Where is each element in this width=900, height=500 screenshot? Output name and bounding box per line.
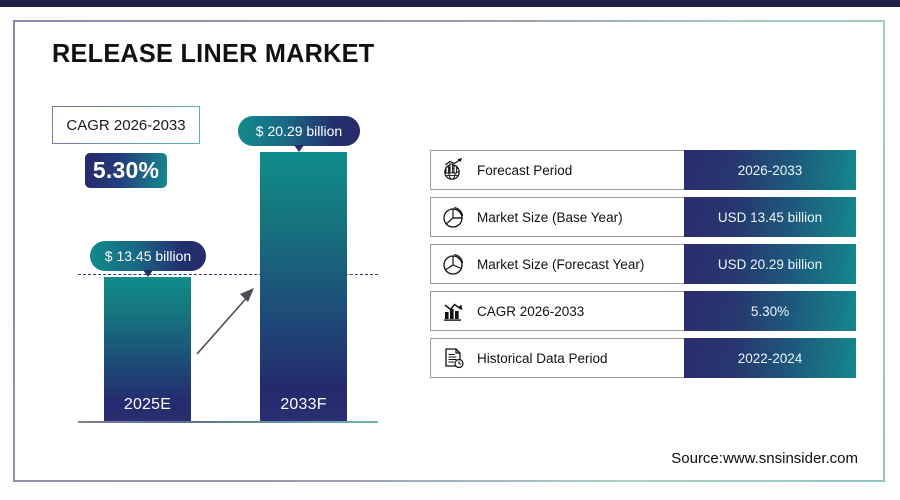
table-row-value: 2022-2024 bbox=[684, 338, 856, 378]
bar-chart-icon bbox=[439, 296, 469, 326]
table-row-label: Market Size (Forecast Year) bbox=[477, 257, 644, 272]
value-pill-2025e: $ 13.45 billion bbox=[90, 241, 206, 271]
value-pill-2033f: $ 20.29 billion bbox=[238, 116, 360, 146]
document-clock-icon bbox=[439, 343, 469, 373]
table-row-label: CAGR 2026-2033 bbox=[477, 304, 584, 319]
table-row-value: USD 13.45 billion bbox=[684, 197, 856, 237]
table-row: CAGR 2026-2033 5.30% bbox=[430, 291, 856, 331]
table-row: Market Size (Forecast Year) USD 20.29 bi… bbox=[430, 244, 856, 284]
table-row-label: Forecast Period bbox=[477, 163, 572, 178]
bar-label-2025e: 2025E bbox=[104, 396, 191, 414]
table-row-value: 5.30% bbox=[684, 291, 856, 331]
pie-chart-icon bbox=[439, 202, 469, 232]
table-row: Historical Data Period 2022-2024 bbox=[430, 338, 856, 378]
growth-arrow-icon bbox=[192, 282, 262, 358]
globe-trend-icon bbox=[439, 155, 469, 185]
table-row-value: USD 20.29 billion bbox=[684, 244, 856, 284]
bar-chart: 2025E 2033F $ 13.45 billion $ 20.29 bill… bbox=[0, 0, 420, 500]
table-row-value: 2026-2033 bbox=[684, 150, 856, 190]
source-attribution: Source:www.snsinsider.com bbox=[671, 450, 858, 467]
bar-2033f bbox=[260, 152, 347, 422]
pie-chart-alt-icon bbox=[439, 249, 469, 279]
table-row-label: Historical Data Period bbox=[477, 351, 608, 366]
infographic-page: RELEASE LINER MARKET CAGR 2026-2033 5.30… bbox=[0, 0, 900, 500]
market-info-table: Forecast Period 2026-2033 Market Size (B… bbox=[430, 150, 856, 385]
table-row-label-cell: Forecast Period bbox=[430, 150, 684, 190]
table-row-label-cell: Historical Data Period bbox=[430, 338, 684, 378]
table-row: Market Size (Base Year) USD 13.45 billio… bbox=[430, 197, 856, 237]
table-row-label: Market Size (Base Year) bbox=[477, 210, 623, 225]
axis-baseline bbox=[78, 421, 378, 423]
table-row: Forecast Period 2026-2033 bbox=[430, 150, 856, 190]
table-row-label-cell: Market Size (Base Year) bbox=[430, 197, 684, 237]
table-row-label-cell: CAGR 2026-2033 bbox=[430, 291, 684, 331]
table-row-label-cell: Market Size (Forecast Year) bbox=[430, 244, 684, 284]
bar-label-2033f: 2033F bbox=[260, 396, 347, 414]
